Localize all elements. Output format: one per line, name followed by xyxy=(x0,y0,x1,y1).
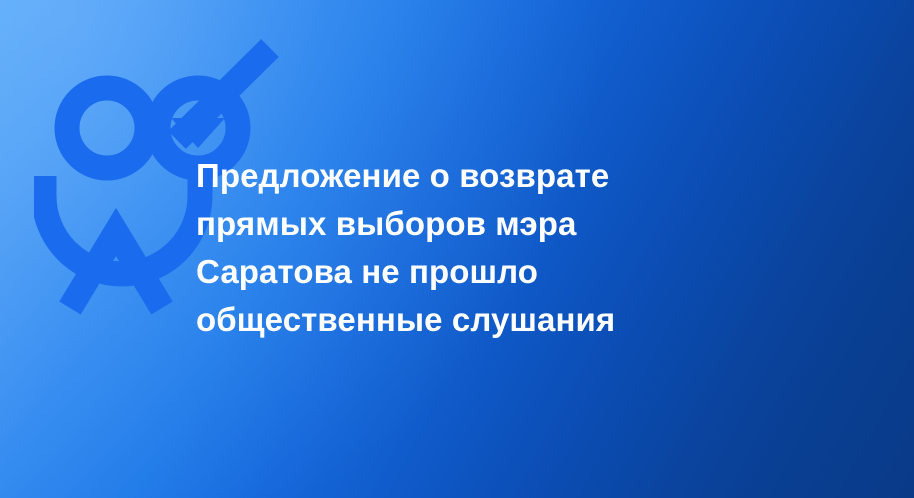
headline-line: Саратова не прошло xyxy=(196,248,716,296)
left-head-ring-icon xyxy=(67,88,147,168)
page-title: Предложение о возврате прямых выборов мэ… xyxy=(196,152,716,344)
headline-line: Предложение о возврате xyxy=(196,152,716,200)
headline-line: общественные слушания xyxy=(196,296,716,344)
share-card: Предложение о возврате прямых выборов мэ… xyxy=(0,0,914,498)
headline-line: прямых выборов мэра xyxy=(196,200,716,248)
